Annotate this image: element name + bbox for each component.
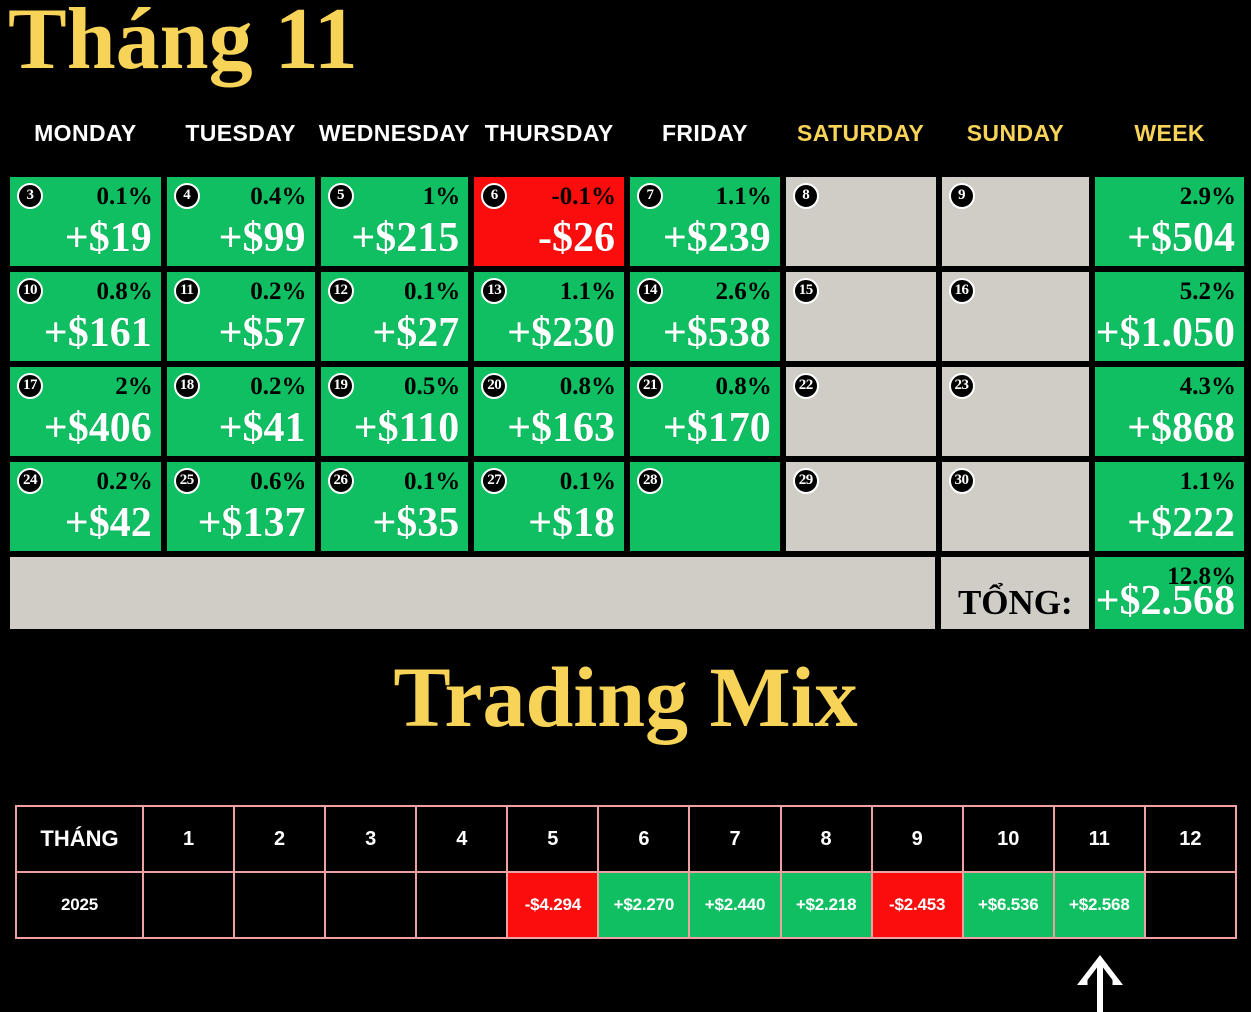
day-number: 18 xyxy=(174,373,200,399)
calendar-day-cell[interactable]: 110.2%+$57 xyxy=(164,269,318,364)
month-table-month-header: 6 xyxy=(598,806,689,872)
calendar-day-cell[interactable]: 180.2%+$41 xyxy=(164,364,318,459)
day-number: 23 xyxy=(949,373,975,399)
day-percent: 0.1% xyxy=(404,469,460,495)
calendar-day-cell[interactable]: 6-0.1%-$26 xyxy=(471,174,627,269)
day-percent: 2.6% xyxy=(716,279,772,305)
calendar-day-cell[interactable]: 40.4%+$99 xyxy=(164,174,318,269)
month-table-month-header: 3 xyxy=(325,806,416,872)
day-percent: 0.1% xyxy=(560,469,616,495)
calendar-total-row: TỔNG:12.8%+$2.568 xyxy=(7,554,1247,632)
calendar-day-cell[interactable]: 172%+$406 xyxy=(7,364,164,459)
day-amount: -$26 xyxy=(538,214,615,262)
weekday-header-monday: MONDAY xyxy=(7,120,164,147)
day-number: 21 xyxy=(637,373,663,399)
trading-mix-title: Trading Mix xyxy=(0,650,1251,745)
day-amount: +$99 xyxy=(219,214,306,262)
day-number: 20 xyxy=(481,373,507,399)
day-amount: +$161 xyxy=(44,309,152,357)
day-percent: 0.8% xyxy=(560,374,616,400)
day-number: 6 xyxy=(481,183,507,209)
day-number: 9 xyxy=(949,183,975,209)
calendar-day-cell[interactable]: 15 xyxy=(783,269,939,364)
day-amount: +$215 xyxy=(351,214,459,262)
day-number: 16 xyxy=(949,278,975,304)
calendar-day-cell[interactable]: 51%+$215 xyxy=(318,174,472,269)
arrow-up-icon xyxy=(1070,952,1130,1012)
month-table-month-header: 11 xyxy=(1054,806,1145,872)
month-table-month-header: 4 xyxy=(416,806,507,872)
total-amount: +$2.568 xyxy=(1096,577,1235,625)
day-number: 27 xyxy=(481,468,507,494)
day-percent: -0.1% xyxy=(551,184,616,210)
calendar-day-cell[interactable]: 9 xyxy=(939,174,1093,269)
month-table-value-cell[interactable]: +$6.536 xyxy=(963,872,1054,938)
day-percent: 1.1% xyxy=(560,279,616,305)
day-number: 13 xyxy=(481,278,507,304)
calendar-day-cell[interactable]: 16 xyxy=(939,269,1093,364)
calendar-day-cell[interactable]: 22 xyxy=(783,364,939,459)
day-amount: +$42 xyxy=(65,499,152,547)
day-number: 25 xyxy=(174,468,200,494)
day-percent: 0.4% xyxy=(250,184,306,210)
day-percent: 0.6% xyxy=(250,469,306,495)
day-percent: 0.1% xyxy=(404,279,460,305)
month-table-month-header: 1 xyxy=(143,806,234,872)
day-percent: 0.1% xyxy=(96,184,152,210)
month-table-header-row: THÁNG123456789101112 xyxy=(16,806,1236,872)
day-percent: 0.8% xyxy=(716,374,772,400)
day-amount: +$27 xyxy=(372,309,459,357)
week-amount: +$1.050 xyxy=(1096,309,1235,357)
month-table-value-cell[interactable] xyxy=(143,872,234,938)
week-percent: 2.9% xyxy=(1180,184,1236,210)
calendar-day-cell[interactable]: 250.6%+$137 xyxy=(164,459,318,554)
calendar-week-row: 100.8%+$161110.2%+$57120.1%+$27131.1%+$2… xyxy=(7,269,1247,364)
day-number: 3 xyxy=(17,183,43,209)
week-summary-cell[interactable]: 5.2%+$1.050 xyxy=(1092,269,1247,364)
day-number: 28 xyxy=(637,468,663,494)
day-amount: +$137 xyxy=(198,499,306,547)
day-amount: +$19 xyxy=(65,214,152,262)
month-table-values-row: 2025-$4.294+$2.270+$2.440+$2.218-$2.453+… xyxy=(16,872,1236,938)
day-number: 29 xyxy=(793,468,819,494)
weekday-header-tuesday: TUESDAY xyxy=(164,120,318,147)
day-amount: +$170 xyxy=(663,404,771,452)
month-table-month-header: 10 xyxy=(963,806,1054,872)
calendar-day-cell[interactable]: 240.2%+$42 xyxy=(7,459,164,554)
day-number: 19 xyxy=(328,373,354,399)
day-amount: +$230 xyxy=(507,309,615,357)
day-number: 30 xyxy=(949,468,975,494)
total-row-spacer xyxy=(7,554,938,632)
calendar-week-row: 172%+$406180.2%+$41190.5%+$110200.8%+$16… xyxy=(7,364,1247,459)
week-summary-cell[interactable]: 1.1%+$222 xyxy=(1092,459,1247,554)
day-amount: +$239 xyxy=(663,214,771,262)
day-number: 12 xyxy=(328,278,354,304)
month-table-header-label: THÁNG xyxy=(16,806,143,872)
day-amount: +$41 xyxy=(219,404,306,452)
monthly-summary-table: THÁNG1234567891011122025-$4.294+$2.270+$… xyxy=(15,805,1237,939)
calendar-day-cell[interactable]: 28 xyxy=(627,459,783,554)
week-amount: +$222 xyxy=(1127,499,1235,547)
day-percent: 0.2% xyxy=(250,279,306,305)
day-percent: 0.2% xyxy=(250,374,306,400)
calendar-day-cell[interactable]: 100.8%+$161 xyxy=(7,269,164,364)
day-amount: +$35 xyxy=(372,499,459,547)
day-percent: 0.2% xyxy=(96,469,152,495)
total-label-cell: TỔNG: xyxy=(938,554,1092,632)
day-amount: +$57 xyxy=(219,309,306,357)
calendar-day-cell[interactable]: 8 xyxy=(783,174,939,269)
month-table-value-cell[interactable]: +$2.440 xyxy=(689,872,780,938)
week-summary-cell[interactable]: 4.3%+$868 xyxy=(1092,364,1247,459)
month-table-value-cell[interactable]: +$2.568 xyxy=(1054,872,1145,938)
day-number: 11 xyxy=(174,278,200,304)
weekday-header-wednesday: WEDNESDAY xyxy=(318,120,472,147)
day-amount: +$110 xyxy=(354,404,460,452)
calendar-day-cell[interactable]: 120.1%+$27 xyxy=(318,269,472,364)
month-table-value-cell[interactable]: -$4.294 xyxy=(507,872,598,938)
week-percent: 4.3% xyxy=(1180,374,1236,400)
calendar-day-cell[interactable]: 30 xyxy=(939,459,1093,554)
calendar-day-cell[interactable]: 29 xyxy=(783,459,939,554)
week-percent: 1.1% xyxy=(1180,469,1236,495)
month-table-value-cell[interactable] xyxy=(234,872,325,938)
month-table-month-header: 8 xyxy=(781,806,872,872)
day-percent: 1.1% xyxy=(716,184,772,210)
total-summary-cell[interactable]: 12.8%+$2.568 xyxy=(1092,554,1247,632)
calendar-day-cell[interactable]: 71.1%+$239 xyxy=(627,174,783,269)
day-percent: 0.8% xyxy=(96,279,152,305)
calendar-day-cell[interactable]: 142.6%+$538 xyxy=(627,269,783,364)
day-number: 26 xyxy=(328,468,354,494)
weekday-header: MONDAYTUESDAYWEDNESDAYTHURSDAYFRIDAYSATU… xyxy=(7,120,1247,147)
day-percent: 2% xyxy=(115,374,153,400)
page-title: Tháng 11 xyxy=(8,0,358,89)
week-summary-cell[interactable]: 2.9%+$504 xyxy=(1092,174,1247,269)
calendar-day-cell[interactable]: 270.1%+$18 xyxy=(471,459,627,554)
month-table-month-header: 2 xyxy=(234,806,325,872)
calendar-day-cell[interactable]: 200.8%+$163 xyxy=(471,364,627,459)
day-number: 17 xyxy=(17,373,43,399)
day-number: 7 xyxy=(637,183,663,209)
calendar-day-cell[interactable]: 23 xyxy=(939,364,1093,459)
day-number: 24 xyxy=(17,468,43,494)
calendar-week-row: 30.1%+$1940.4%+$9951%+$2156-0.1%-$2671.1… xyxy=(7,174,1247,269)
day-number: 22 xyxy=(793,373,819,399)
month-table-month-header: 9 xyxy=(872,806,963,872)
month-table-value-cell[interactable] xyxy=(1145,872,1236,938)
month-table-value-cell[interactable]: -$2.453 xyxy=(872,872,963,938)
month-table-month-header: 5 xyxy=(507,806,598,872)
day-number: 4 xyxy=(174,183,200,209)
day-percent: 1% xyxy=(423,184,461,210)
day-amount: +$538 xyxy=(663,309,771,357)
calendar-day-cell[interactable]: 131.1%+$230 xyxy=(471,269,627,364)
weekday-header-week: WEEK xyxy=(1092,120,1247,147)
day-amount: +$406 xyxy=(44,404,152,452)
month-table-value-cell[interactable] xyxy=(325,872,416,938)
day-amount: +$18 xyxy=(528,499,615,547)
day-number: 10 xyxy=(17,278,43,304)
weekday-header-friday: FRIDAY xyxy=(627,120,783,147)
calendar-grid: 30.1%+$1940.4%+$9951%+$2156-0.1%-$2671.1… xyxy=(7,174,1247,632)
weekday-header-thursday: THURSDAY xyxy=(471,120,627,147)
month-table-year-label: 2025 xyxy=(16,872,143,938)
day-percent: 0.5% xyxy=(404,374,460,400)
month-table-value-cell[interactable]: +$2.270 xyxy=(598,872,689,938)
week-amount: +$868 xyxy=(1127,404,1235,452)
total-label: TỔNG: xyxy=(941,583,1089,623)
calendar-day-cell[interactable]: 210.8%+$170 xyxy=(627,364,783,459)
weekday-header-sunday: SUNDAY xyxy=(939,120,1093,147)
calendar-week-row: 240.2%+$42250.6%+$137260.1%+$35270.1%+$1… xyxy=(7,459,1247,554)
month-table-month-header: 7 xyxy=(689,806,780,872)
day-number: 14 xyxy=(637,278,663,304)
month-table-month-header: 12 xyxy=(1145,806,1236,872)
month-table-value-cell[interactable] xyxy=(416,872,507,938)
calendar-day-cell[interactable]: 30.1%+$19 xyxy=(7,174,164,269)
weekday-header-saturday: SATURDAY xyxy=(783,120,939,147)
calendar-day-cell[interactable]: 260.1%+$35 xyxy=(318,459,472,554)
day-number: 8 xyxy=(793,183,819,209)
week-percent: 5.2% xyxy=(1180,279,1236,305)
day-amount: +$163 xyxy=(507,404,615,452)
day-number: 15 xyxy=(793,278,819,304)
day-number: 5 xyxy=(328,183,354,209)
calendar-day-cell[interactable]: 190.5%+$110 xyxy=(318,364,472,459)
month-table-value-cell[interactable]: +$2.218 xyxy=(781,872,872,938)
week-amount: +$504 xyxy=(1127,214,1235,262)
